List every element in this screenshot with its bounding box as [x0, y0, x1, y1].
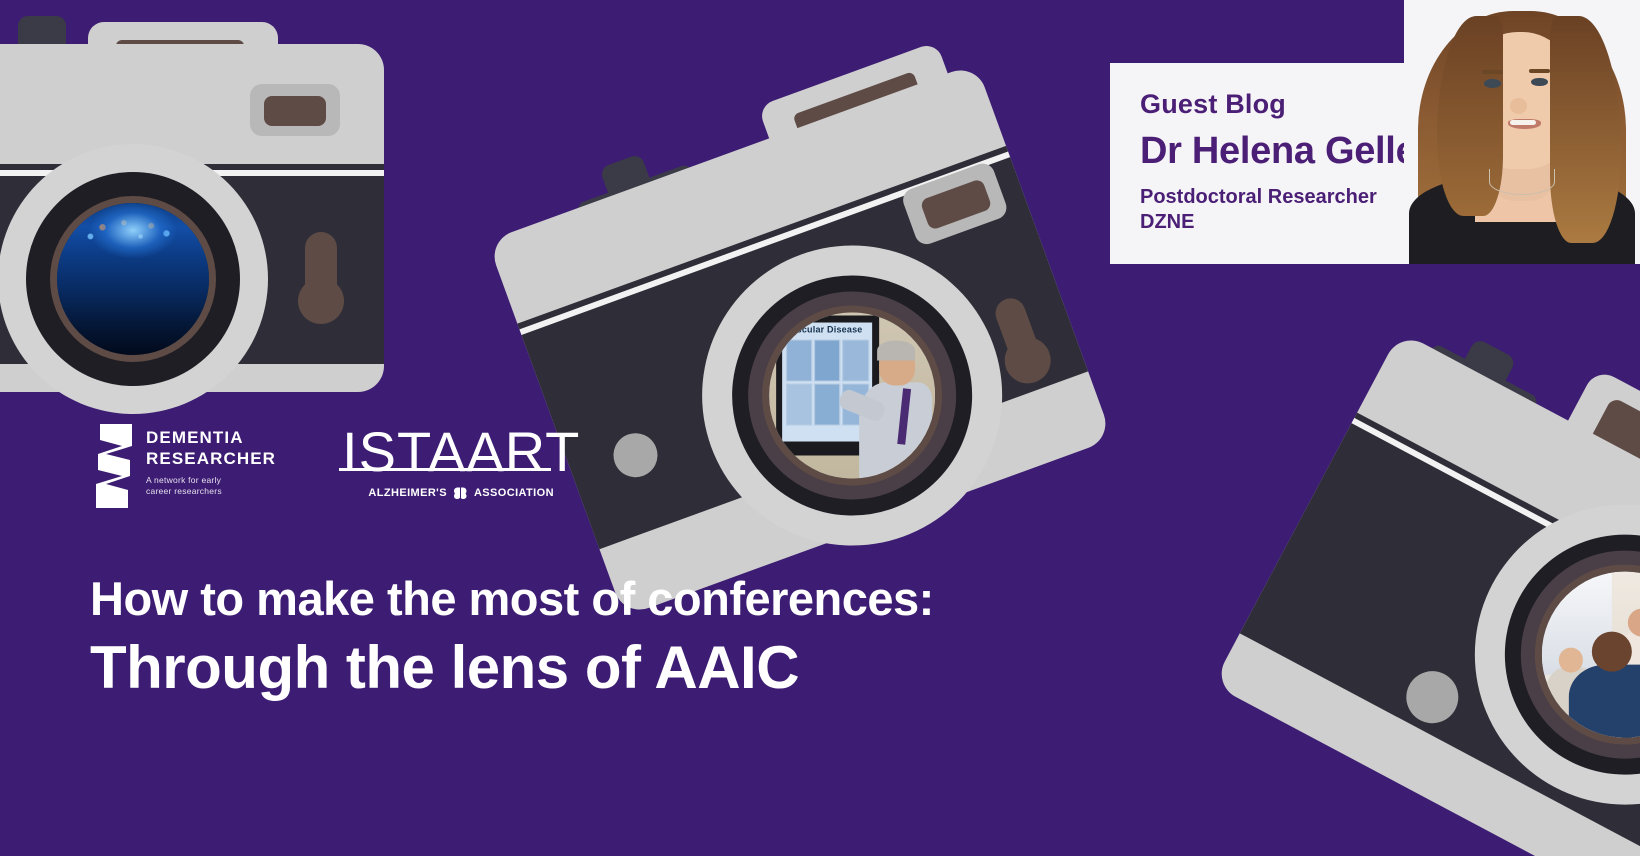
attendee-1-body	[1568, 665, 1640, 738]
logo-istaart[interactable]: ISTAART ALZHEIMER'S ASSOCIATION	[342, 424, 580, 500]
guest-portrait	[1404, 0, 1640, 264]
istaart-strikethrough	[339, 468, 551, 471]
dementia-researcher-tagline: A network for early career researchers	[146, 475, 276, 498]
dementia-researcher-tagline-line2: career researchers	[146, 486, 276, 497]
dementia-researcher-mark-icon	[92, 424, 136, 502]
alzheimers-brain-icon	[452, 486, 469, 500]
istaart-association-post: ASSOCIATION	[474, 487, 554, 499]
headline-line1: How to make the most of conferences:	[90, 574, 1150, 623]
portrait-nose	[1510, 98, 1527, 114]
camera-center-lens-photo: Vascular Disease	[769, 313, 935, 479]
poster-title: Vascular Disease	[786, 325, 869, 335]
camera-left-lens-photo	[57, 203, 209, 355]
poster-figure-cell	[786, 339, 812, 381]
camera-left-knob	[18, 16, 66, 46]
presenter-hair	[877, 341, 915, 361]
photo-session-audience	[1542, 572, 1640, 738]
headline-block: How to make the most of conferences: Thr…	[90, 574, 1150, 701]
dementia-researcher-tagline-line1: A network for early	[146, 475, 276, 486]
logo-row: DEMENTIA RESEARCHER A network for early …	[92, 424, 580, 502]
camera-left-grip-knob	[298, 278, 344, 324]
headline-line2: Through the lens of AAIC	[90, 635, 1150, 701]
portrait-teeth	[1510, 120, 1536, 125]
camera-left-flash	[264, 96, 326, 126]
camera-center: Vascular Disease	[487, 63, 1112, 617]
portrait-brow-right	[1529, 69, 1550, 73]
istaart-association-pre: ALZHEIMER'S	[368, 487, 447, 499]
dementia-researcher-line2: RESEARCHER	[146, 449, 276, 470]
camera-left	[0, 44, 384, 392]
portrait-eye-left	[1484, 79, 1501, 87]
presenter-body	[859, 382, 932, 478]
poster-figure-cell	[814, 339, 840, 381]
poster-figure-cell	[842, 339, 868, 381]
banner-canvas: Vascular Disease	[0, 0, 1640, 856]
dementia-researcher-line1: DEMENTIA	[146, 428, 276, 449]
photo-poster-presentation: Vascular Disease	[769, 313, 935, 479]
dementia-researcher-text: DEMENTIA RESEARCHER A network for early …	[146, 428, 276, 497]
istaart-association-row: ALZHEIMER'S ASSOCIATION	[368, 486, 554, 500]
logo-dementia-researcher[interactable]: DEMENTIA RESEARCHER A network for early …	[92, 424, 276, 502]
poster-figure-cell	[814, 383, 840, 425]
photo-conference-audience	[57, 203, 209, 355]
attendee-1-head	[1592, 631, 1632, 671]
camera-right	[1213, 331, 1640, 856]
istaart-wordmark: ISTAART	[342, 424, 580, 480]
portrait-brow-left	[1482, 70, 1503, 74]
camera-right-lens-photo	[1542, 572, 1640, 738]
poster-figure-cell	[786, 383, 812, 425]
